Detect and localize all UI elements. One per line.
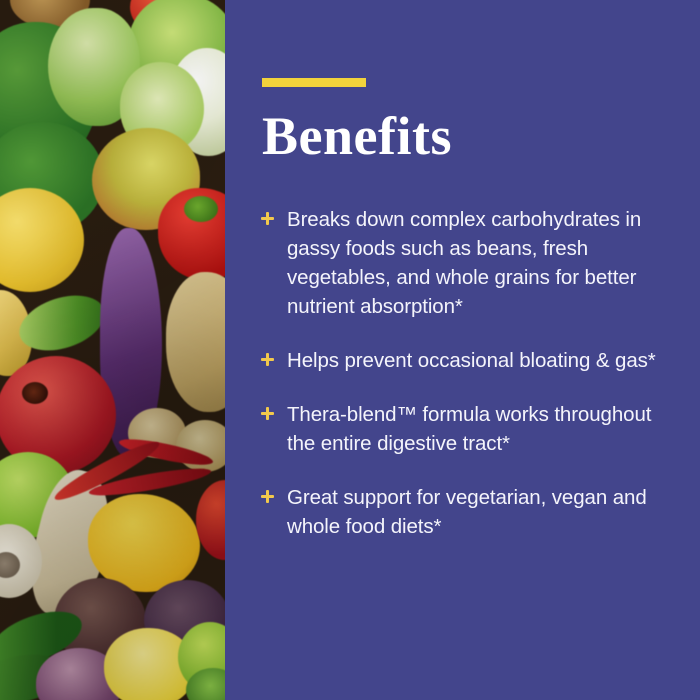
produce-item-pomegranate-crown [22,382,48,404]
product-benefits-panel: Benefits Breaks down complex carbohydrat… [0,0,700,700]
benefit-list-item: Breaks down complex carbohydrates in gas… [261,205,661,321]
plus-icon [261,353,274,366]
plus-icon [261,212,274,225]
page-title: Benefits [262,108,452,165]
accent-rule [262,78,366,87]
produce-photo [0,0,225,700]
benefit-list: Breaks down complex carbohydrates in gas… [261,205,661,541]
benefit-text: Thera-blend™ formula works throughout th… [287,400,661,458]
benefit-list-item: Thera-blend™ formula works throughout th… [261,400,661,458]
benefit-text: Great support for vegetarian, vegan and … [287,483,661,541]
produce-item-pepper-stem [184,196,218,222]
benefit-list-item: Helps prevent occasional bloating & gas* [261,346,661,375]
benefit-text: Breaks down complex carbohydrates in gas… [287,205,661,321]
benefits-content-panel: Benefits Breaks down complex carbohydrat… [225,0,700,700]
benefit-text: Helps prevent occasional bloating & gas* [287,346,661,375]
produce-item-red-apple [196,480,225,560]
plus-icon [261,407,274,420]
produce-item-potato-large [166,272,225,412]
benefit-list-item: Great support for vegetarian, vegan and … [261,483,661,541]
plus-icon [261,490,274,503]
